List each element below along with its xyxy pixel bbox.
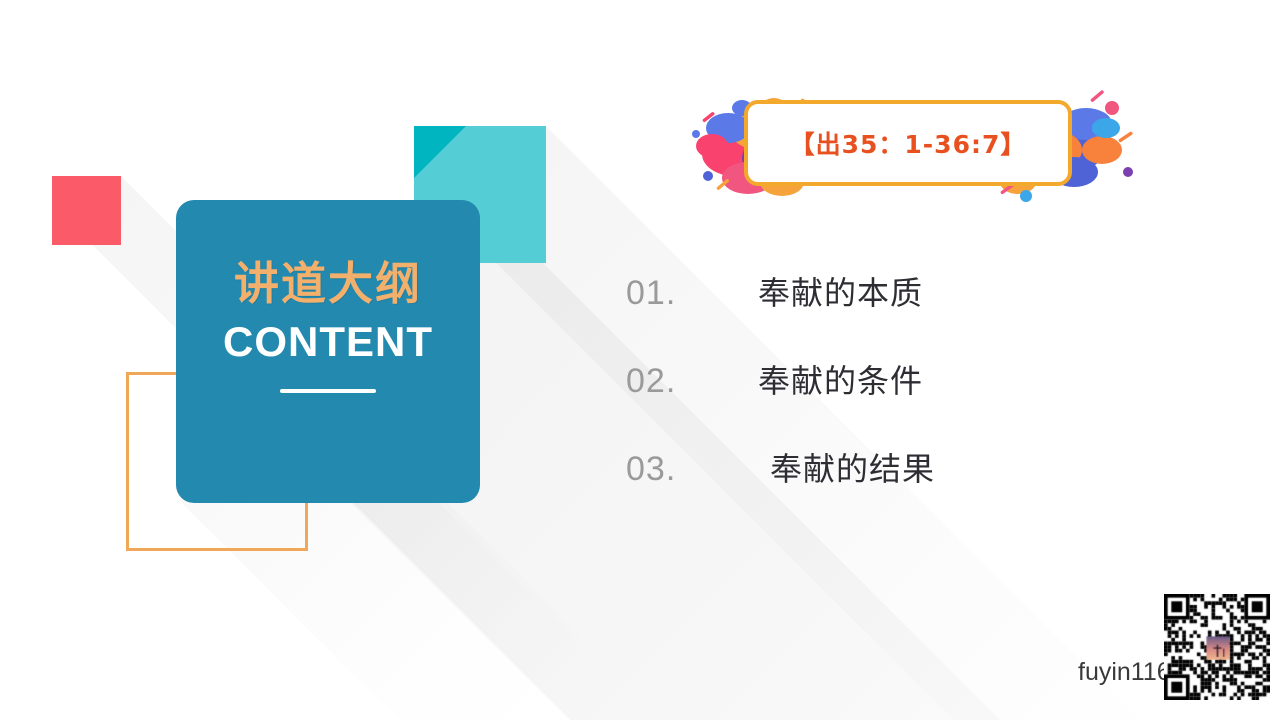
content-card-divider <box>280 389 376 393</box>
outline-item-label: 奉献的结果 <box>770 444 935 490</box>
outline-item-label: 奉献的本质 <box>758 268 923 314</box>
outline-item-number: 03. <box>626 450 770 489</box>
content-card-title-cn: 讲道大纲 <box>234 260 422 307</box>
scripture-badge-group: 【出35：1-36:7】 <box>682 84 1134 206</box>
qr-code-canvas <box>1164 594 1270 700</box>
scripture-reference-text: 【出35：1-36:7】 <box>790 125 1027 161</box>
outline-item-03: 03. 奉献的结果 <box>626 444 1046 532</box>
slide-canvas: 讲道大纲 CONTENT <box>0 0 1280 720</box>
outline-item-02: 02. 奉献的条件 <box>626 356 1046 444</box>
outline-list: 01. 奉献的本质 02. 奉献的条件 03. 奉献的结果 <box>626 268 1046 532</box>
content-card: 讲道大纲 CONTENT <box>176 200 480 503</box>
red-square-decoration <box>52 176 121 245</box>
outline-item-number: 02. <box>626 362 758 401</box>
outline-item-number: 01. <box>626 274 758 313</box>
content-card-title-en: CONTENT <box>223 321 433 363</box>
footer-watermark: fuyin116.com <box>1070 594 1270 706</box>
scripture-badge: 【出35：1-36:7】 <box>744 100 1072 186</box>
qr-code <box>1164 594 1270 700</box>
outline-item-label: 奉献的条件 <box>758 356 923 402</box>
outline-item-01: 01. 奉献的本质 <box>626 268 1046 356</box>
